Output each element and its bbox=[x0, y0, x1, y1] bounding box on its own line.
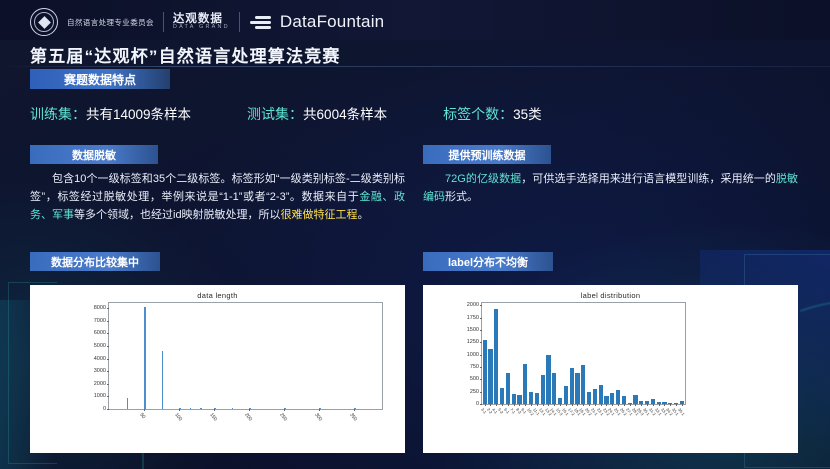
chart-bar bbox=[610, 393, 614, 404]
chart-label-distribution: label distribution 025050075010001250150… bbox=[423, 285, 798, 453]
y-tick-label: 2000 bbox=[467, 302, 479, 308]
stats-row: 训练集： 共有14009条样本 测试集： 共6004条样本 标签个数： 35类 bbox=[30, 100, 670, 126]
x-tick-mark bbox=[554, 404, 555, 406]
y-tick-label: 0 bbox=[103, 406, 106, 412]
pretrain-text-1: ，可供选手选择用来进行语言模型训练，采用统一的 bbox=[521, 173, 776, 185]
chart-bar bbox=[517, 395, 521, 404]
datafountain-mark-icon bbox=[249, 15, 271, 30]
chart-data-length: data length 0100020003000400050006000700… bbox=[30, 285, 405, 453]
x-tick-label: 350 bbox=[348, 412, 358, 422]
x-tick-mark bbox=[647, 404, 648, 406]
chart-bar bbox=[523, 364, 527, 404]
stat-labels-key: 标签个数： bbox=[443, 104, 513, 124]
y-tick-label: 1750 bbox=[467, 315, 479, 321]
chart-bar bbox=[570, 368, 574, 404]
chart-bar bbox=[488, 349, 492, 404]
datagrand-logo: 达观数据 DATA GRAND bbox=[173, 13, 230, 31]
datagrand-en-label: DATA GRAND bbox=[173, 25, 230, 31]
chart-axes-label-distribution: 0250500750100012501500175020003-12-24-15… bbox=[481, 302, 686, 405]
chart-axes-data-length: 0100020003000400050006000700080005010015… bbox=[108, 302, 383, 410]
logo-divider-2 bbox=[239, 12, 240, 32]
desens-text-1: 包含10个一级标签和35个二级标签。标签形如“一级类别标签-二级类别标签”，标签… bbox=[30, 173, 405, 203]
x-tick-mark bbox=[641, 404, 642, 406]
x-tick-mark bbox=[595, 404, 596, 406]
x-tick-mark bbox=[531, 404, 532, 406]
chart-bar bbox=[200, 408, 202, 409]
x-tick-label: 36-1 bbox=[677, 407, 686, 416]
title-divider bbox=[0, 66, 830, 67]
chart-bar bbox=[354, 408, 356, 409]
x-tick-mark bbox=[525, 404, 526, 406]
logo-row: 自然语言处理专业委员会 达观数据 DATA GRAND DataFountain bbox=[30, 8, 384, 36]
x-tick-mark bbox=[583, 404, 584, 406]
x-tick-mark bbox=[179, 409, 180, 411]
x-tick-mark bbox=[664, 404, 665, 406]
y-tick-label: 1500 bbox=[467, 327, 479, 333]
x-tick-mark bbox=[502, 404, 503, 406]
logo-divider-1 bbox=[163, 12, 164, 32]
chart-bar bbox=[179, 408, 181, 410]
chart-bar bbox=[284, 408, 286, 409]
y-tick-label: 4000 bbox=[94, 356, 106, 362]
chart-bar bbox=[529, 392, 533, 404]
stat-labels-value: 35类 bbox=[513, 103, 542, 123]
chart-bar bbox=[599, 385, 603, 404]
chart-bar bbox=[144, 307, 146, 409]
datafountain-label: DataFountain bbox=[280, 12, 384, 32]
chart-card-label-distribution: label distribution 025050075010001250150… bbox=[423, 285, 798, 453]
x-tick-mark bbox=[659, 404, 660, 406]
x-tick-mark bbox=[566, 404, 567, 406]
y-tick-label: 5000 bbox=[94, 343, 106, 349]
chart-bar bbox=[512, 394, 516, 404]
panel-chip-label-distribution: label分布不均衡 bbox=[423, 252, 553, 271]
y-tick-label: 0 bbox=[476, 401, 479, 407]
x-tick-mark bbox=[682, 404, 683, 406]
x-tick-mark bbox=[601, 404, 602, 406]
chart-bar bbox=[535, 393, 539, 404]
top-bar: 自然语言处理专业委员会 达观数据 DATA GRAND DataFountain bbox=[0, 0, 830, 40]
y-tick-label: 250 bbox=[470, 389, 479, 395]
x-tick-mark bbox=[354, 409, 355, 411]
chart-bar bbox=[319, 408, 321, 409]
chart-bar bbox=[190, 408, 192, 409]
x-tick-mark bbox=[676, 404, 677, 406]
chart-bar bbox=[541, 375, 545, 404]
chart-title-label-distribution: label distribution bbox=[423, 291, 798, 300]
x-tick-mark bbox=[284, 409, 285, 411]
x-tick-mark bbox=[249, 409, 250, 411]
chart-bar bbox=[483, 340, 487, 404]
panel-text-desensitization: 包含10个一级标签和35个二级标签。标签形如“一级类别标签-二级类别标签”，标签… bbox=[30, 171, 405, 224]
x-tick-mark bbox=[490, 404, 491, 406]
page-title: 第五届“达观杯”自然语言处理算法竞赛 bbox=[30, 42, 341, 67]
x-tick-mark bbox=[589, 404, 590, 406]
pretrain-text-2: 形式。 bbox=[445, 191, 478, 203]
panel-chip-pretrain-data: 提供预训练数据 bbox=[423, 145, 551, 164]
y-tick-label: 2000 bbox=[94, 381, 106, 387]
x-tick-mark bbox=[630, 404, 631, 406]
x-tick-label: 200 bbox=[243, 412, 253, 422]
x-tick-mark bbox=[508, 404, 509, 406]
chart-bar bbox=[546, 355, 550, 404]
x-tick-mark bbox=[635, 404, 636, 406]
x-tick-label: 150 bbox=[208, 412, 218, 422]
chart-bar bbox=[622, 396, 626, 404]
x-tick-mark bbox=[572, 404, 573, 406]
pretrain-highlight-size: 72G的亿级数据 bbox=[445, 173, 521, 185]
chart-bar bbox=[494, 309, 498, 404]
x-tick-mark bbox=[537, 404, 538, 406]
section-chip-data-features: 赛题数据特点 bbox=[30, 69, 170, 89]
x-tick-label: 300 bbox=[313, 412, 323, 422]
chart-bar bbox=[506, 373, 510, 404]
chart-bar bbox=[564, 386, 568, 404]
x-tick-mark bbox=[670, 404, 671, 406]
chart-bar bbox=[581, 365, 585, 404]
y-tick-label: 1000 bbox=[94, 393, 106, 399]
chart-bar bbox=[232, 408, 234, 409]
chart-bar bbox=[616, 390, 620, 404]
desens-text-3: 。 bbox=[358, 209, 369, 221]
chart-bar bbox=[249, 408, 251, 409]
x-tick-mark bbox=[612, 404, 613, 406]
x-tick-mark bbox=[653, 404, 654, 406]
x-tick-mark bbox=[514, 404, 515, 406]
x-tick-label: 50 bbox=[138, 412, 146, 420]
stat-test-value: 共6004条样本 bbox=[303, 103, 387, 123]
chart-bar bbox=[127, 398, 129, 409]
desens-text-2: 等多个领域，也经过id映射脱敏处理，所以 bbox=[74, 209, 281, 221]
x-tick-mark bbox=[543, 404, 544, 406]
stat-label-count: 标签个数： 35类 bbox=[443, 103, 542, 124]
y-tick-label: 1250 bbox=[467, 339, 479, 345]
slide-root: 自然语言处理专业委员会 达观数据 DATA GRAND DataFountain… bbox=[0, 0, 830, 469]
chart-bar bbox=[552, 373, 556, 404]
stat-train-value: 共有14009条样本 bbox=[86, 103, 191, 123]
chart-bar bbox=[587, 392, 591, 404]
chart-bar bbox=[214, 408, 216, 409]
x-tick-mark bbox=[485, 404, 486, 406]
chart-bar bbox=[162, 351, 164, 409]
x-tick-mark bbox=[319, 409, 320, 411]
panel-chip-desensitization: 数据脱敏 bbox=[30, 145, 158, 164]
desens-highlight-feature-eng: 很难做特征工程 bbox=[281, 209, 358, 221]
y-tick-label: 750 bbox=[470, 364, 479, 370]
chart-bar bbox=[575, 373, 579, 404]
chart-bar bbox=[633, 395, 637, 404]
stat-test-set: 测试集： 共6004条样本 bbox=[247, 103, 387, 124]
y-tick-label: 1000 bbox=[467, 352, 479, 358]
x-tick-mark bbox=[519, 404, 520, 406]
chart-bar bbox=[500, 388, 504, 404]
panel-text-pretrain: 72G的亿级数据，可供选手选择用来进行语言模型训练，采用统一的脱敏编码形式。 bbox=[423, 171, 798, 207]
stat-train-key: 训练集： bbox=[30, 104, 86, 124]
ccf-committee-label: 自然语言处理专业委员会 bbox=[67, 17, 154, 28]
chart-card-data-length: data length 0100020003000400050006000700… bbox=[30, 285, 405, 453]
x-tick-label: 100 bbox=[173, 412, 183, 422]
y-tick-label: 7000 bbox=[94, 318, 106, 324]
chart-bar bbox=[593, 389, 597, 404]
x-tick-mark bbox=[618, 404, 619, 406]
ccf-logo-icon bbox=[30, 8, 58, 36]
stat-train-set: 训练集： 共有14009条样本 bbox=[30, 103, 191, 124]
x-tick-mark bbox=[577, 404, 578, 406]
stat-test-key: 测试集： bbox=[247, 104, 303, 124]
x-tick-mark bbox=[624, 404, 625, 406]
x-tick-mark bbox=[606, 404, 607, 406]
x-tick-mark bbox=[548, 404, 549, 406]
y-tick-label: 500 bbox=[470, 376, 479, 382]
x-tick-mark bbox=[496, 404, 497, 406]
x-tick-label: 250 bbox=[278, 412, 288, 422]
x-tick-mark bbox=[144, 409, 145, 411]
chart-title-data-length: data length bbox=[30, 291, 405, 300]
x-tick-mark bbox=[214, 409, 215, 411]
y-tick-label: 8000 bbox=[94, 305, 106, 311]
y-tick-label: 6000 bbox=[94, 330, 106, 336]
chart-bar bbox=[604, 396, 608, 404]
y-tick-label: 3000 bbox=[94, 368, 106, 374]
x-tick-mark bbox=[560, 404, 561, 406]
panel-chip-data-distribution: 数据分布比较集中 bbox=[30, 252, 160, 271]
